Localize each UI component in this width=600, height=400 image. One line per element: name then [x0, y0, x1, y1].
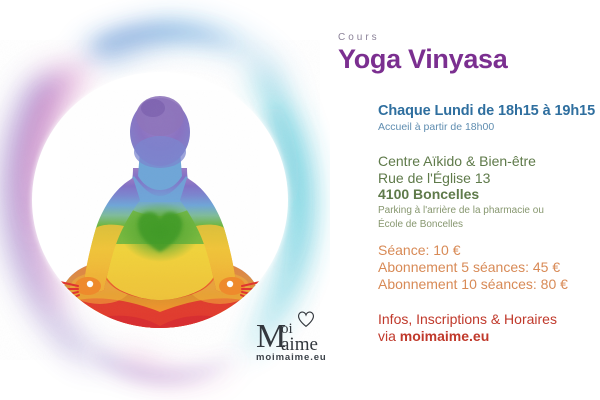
schedule-main: Chaque Lundi de 18h15 à 19h15	[378, 103, 595, 119]
price-pack-5: Abonnement 5 séances: 45 €	[378, 259, 568, 276]
address-note-2: École de Boncelles	[378, 219, 544, 232]
logo-url: moimaime.eu	[256, 352, 327, 363]
address-street: Rue de l'Église 13	[378, 170, 544, 187]
address-note-1: Parking à l'arrière de la pharmacie ou	[378, 205, 544, 218]
pricing-block: Séance: 10 € Abonnement 5 séances: 45 € …	[378, 242, 568, 293]
contact-website-line: via moimaime.eu	[378, 328, 557, 345]
contact-heading: Infos, Inscriptions & Horaires	[378, 311, 557, 328]
contact-website-link[interactable]: moimaime.eu	[400, 328, 489, 344]
contact-via-prefix: via	[378, 328, 400, 344]
schedule-block: Chaque Lundi de 18h15 à 19h15 Accueil à …	[378, 103, 595, 133]
poster: M oi aime moimaime.eu Cours Yoga Vinyasa…	[0, 0, 600, 400]
address-block: Centre Aïkido & Bien-être Rue de l'Églis…	[378, 153, 544, 232]
address-venue: Centre Aïkido & Bien-être	[378, 153, 544, 170]
page-title: Yoga Vinyasa	[338, 44, 508, 75]
contact-block: Infos, Inscriptions & Horaires via moima…	[378, 311, 557, 345]
price-pack-10: Abonnement 10 séances: 80 €	[378, 276, 568, 293]
eyebrow-label: Cours	[338, 32, 380, 43]
content-column: Cours Yoga Vinyasa Chaque Lundi de 18h15…	[336, 0, 600, 400]
price-single: Séance: 10 €	[378, 242, 568, 259]
address-city: 4100 Boncelles	[378, 186, 544, 203]
schedule-sub: Accueil à partir de 18h00	[378, 121, 595, 133]
